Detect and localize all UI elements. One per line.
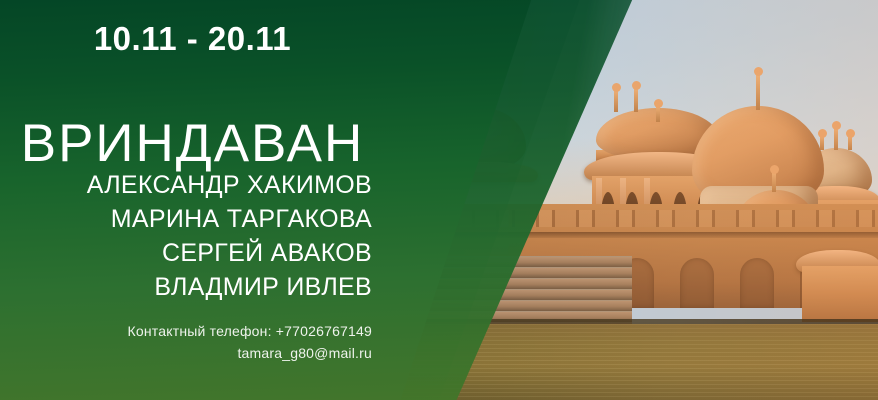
speaker-name: АЛЕКСАНДР ХАКИМОВ — [0, 168, 372, 202]
contact-email: tamara_g80@mail.ru — [0, 342, 372, 364]
speaker-name: СЕРГЕЙ АВАКОВ — [0, 236, 372, 270]
speaker-list: АЛЕКСАНДР ХАКИМОВ МАРИНА ТАРГАКОВА СЕРГЕ… — [0, 168, 385, 304]
speaker-name: ВЛАДМИР ИВЛЕВ — [0, 270, 372, 304]
page-title: ВРИНДАВАН — [0, 116, 385, 172]
banner-content: 10.11 - 20.11 ВРИНДАВАН АЛЕКСАНДР ХАКИМО… — [0, 0, 878, 400]
event-dates: 10.11 - 20.11 — [0, 22, 385, 55]
contact-phone: Контактный телефон: +77026767149 — [0, 320, 372, 342]
event-banner: 10.11 - 20.11 ВРИНДАВАН АЛЕКСАНДР ХАКИМО… — [0, 0, 878, 400]
contact-block: Контактный телефон: +77026767149 tamara_… — [0, 320, 385, 365]
speaker-name: МАРИНА ТАРГАКОВА — [0, 202, 372, 236]
